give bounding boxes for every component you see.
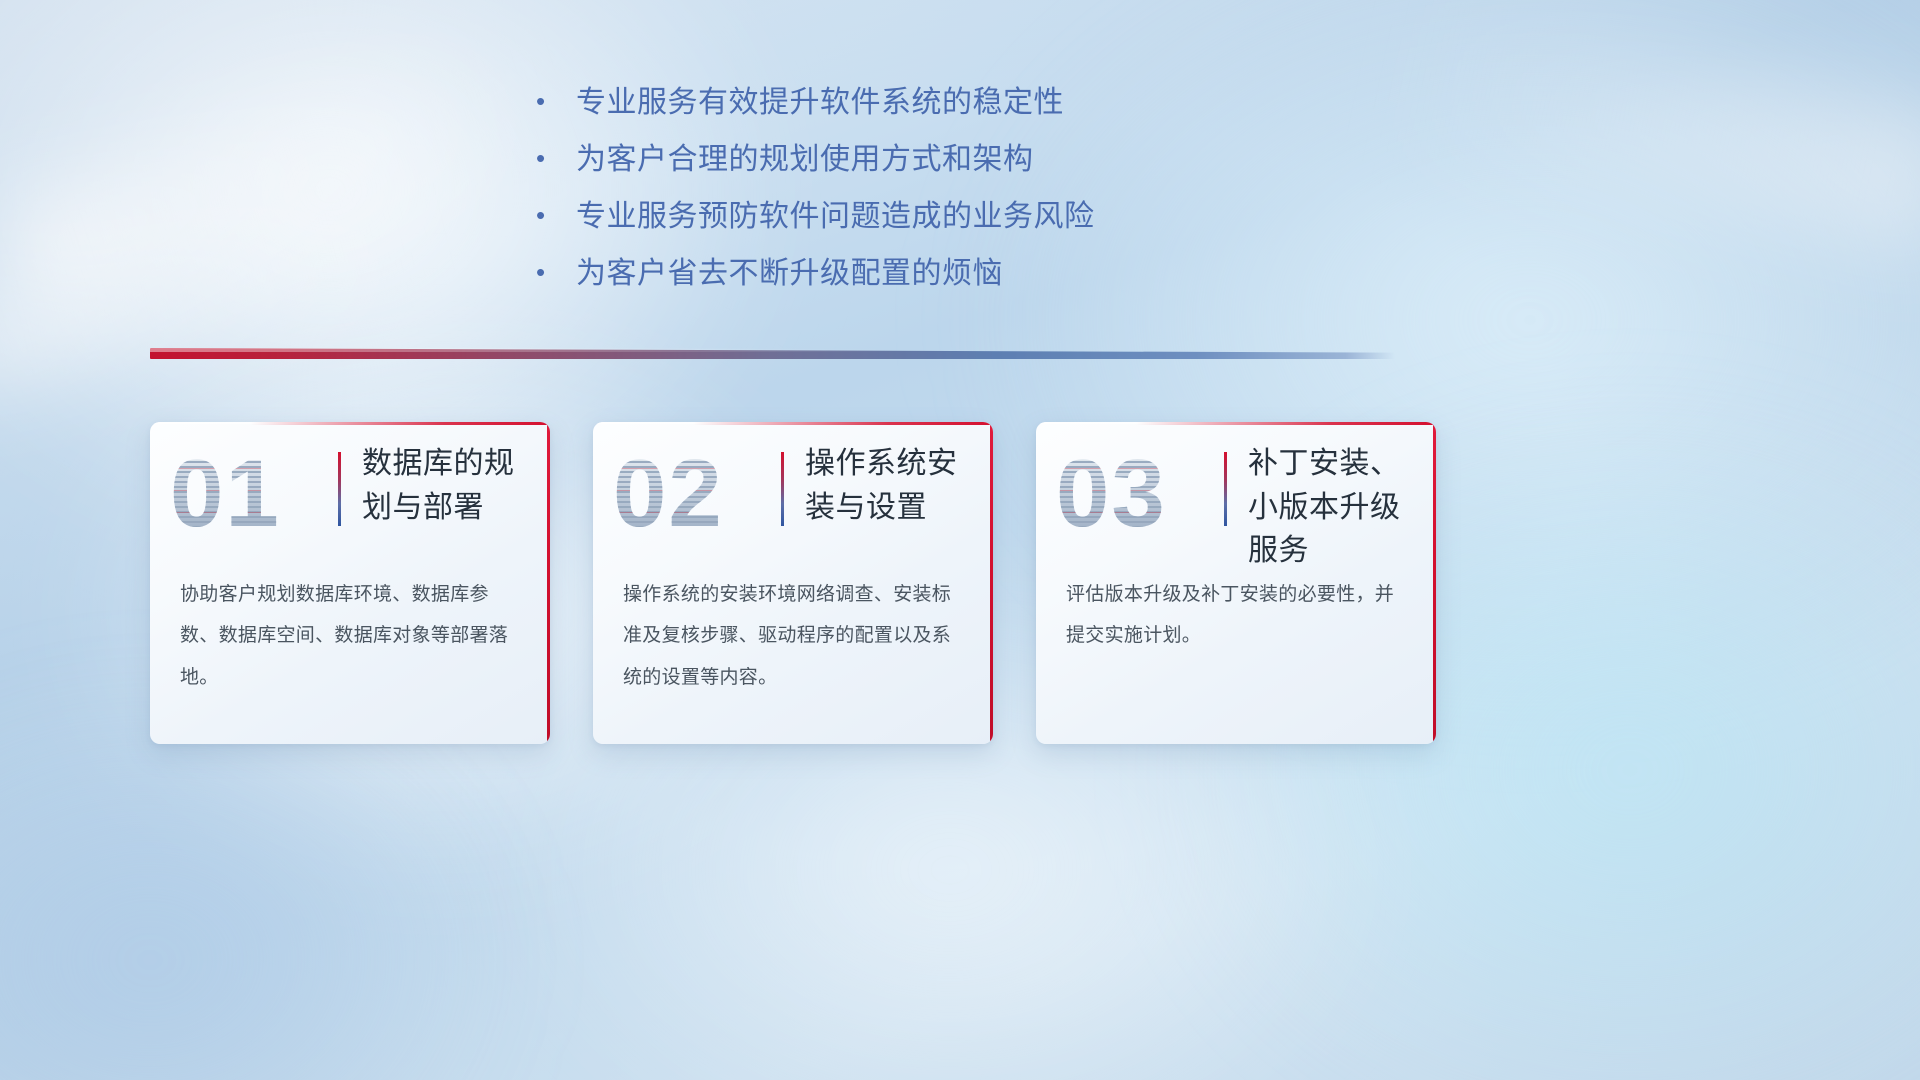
card-title-divider [781,452,784,526]
list-item: • 为客户省去不断升级配置的烦恼 [0,259,1920,289]
bullet-dot-icon: • [536,145,576,171]
card-title: 补丁安装、小版本升级服务 [1248,442,1422,573]
divider-gloss [150,348,1395,352]
service-card-02[interactable]: 02 02 操作系统安装与设置 操作系统的安装环境网络调查、安装标准及复核步骤、… [593,422,993,744]
service-card-03[interactable]: 03 03 补丁安装、小版本升级服务 评估版本升级及补丁安装的必要性，并提交实施… [1036,422,1436,744]
card-header: 02 02 操作系统安装与设置 [593,422,993,554]
bullet-text: 专业服务有效提升软件系统的稳定性 [576,88,1064,118]
section-divider-bar [150,348,1395,359]
bullet-text: 为客户省去不断升级配置的烦恼 [576,259,1003,289]
service-card-01[interactable]: 01 01 数据库的规划与部署 协助客户规划数据库环境、数据库参数、数据库空间、… [150,422,550,744]
bullet-text: 专业服务预防软件问题造成的业务风险 [576,202,1095,232]
list-item: • 专业服务预防软件问题造成的业务风险 [0,202,1920,232]
slide-content: • 专业服务有效提升软件系统的稳定性 • 为客户合理的规划使用方式和架构 • 专… [0,0,1920,1080]
benefits-bullet-list: • 专业服务有效提升软件系统的稳定性 • 为客户合理的规划使用方式和架构 • 专… [0,88,1920,316]
card-body-text: 协助客户规划数据库环境、数据库参数、数据库空间、数据库对象等部署落地。 [180,574,526,698]
card-watermark-tint: 01 [170,446,281,542]
card-body-text: 评估版本升级及补丁安装的必要性，并提交实施计划。 [1066,574,1412,657]
card-header: 01 01 数据库的规划与部署 [150,422,550,554]
card-watermark-tint: 02 [613,446,724,542]
list-item: • 为客户合理的规划使用方式和架构 [0,145,1920,175]
service-cards: 01 01 数据库的规划与部署 协助客户规划数据库环境、数据库参数、数据库空间、… [150,422,1770,744]
bullet-dot-icon: • [536,88,576,114]
card-title: 操作系统安装与设置 [805,442,979,529]
card-title: 数据库的规划与部署 [362,442,536,529]
bullet-dot-icon: • [536,259,576,285]
list-item: • 专业服务有效提升软件系统的稳定性 [0,88,1920,118]
bullet-dot-icon: • [536,202,576,228]
card-watermark-tint: 03 [1056,446,1167,542]
bullet-text: 为客户合理的规划使用方式和架构 [576,145,1034,175]
card-title-divider [338,452,341,526]
card-body-text: 操作系统的安装环境网络调查、安装标准及复核步骤、驱动程序的配置以及系统的设置等内… [623,574,969,698]
card-header: 03 03 补丁安装、小版本升级服务 [1036,422,1436,554]
card-title-divider [1224,452,1227,526]
